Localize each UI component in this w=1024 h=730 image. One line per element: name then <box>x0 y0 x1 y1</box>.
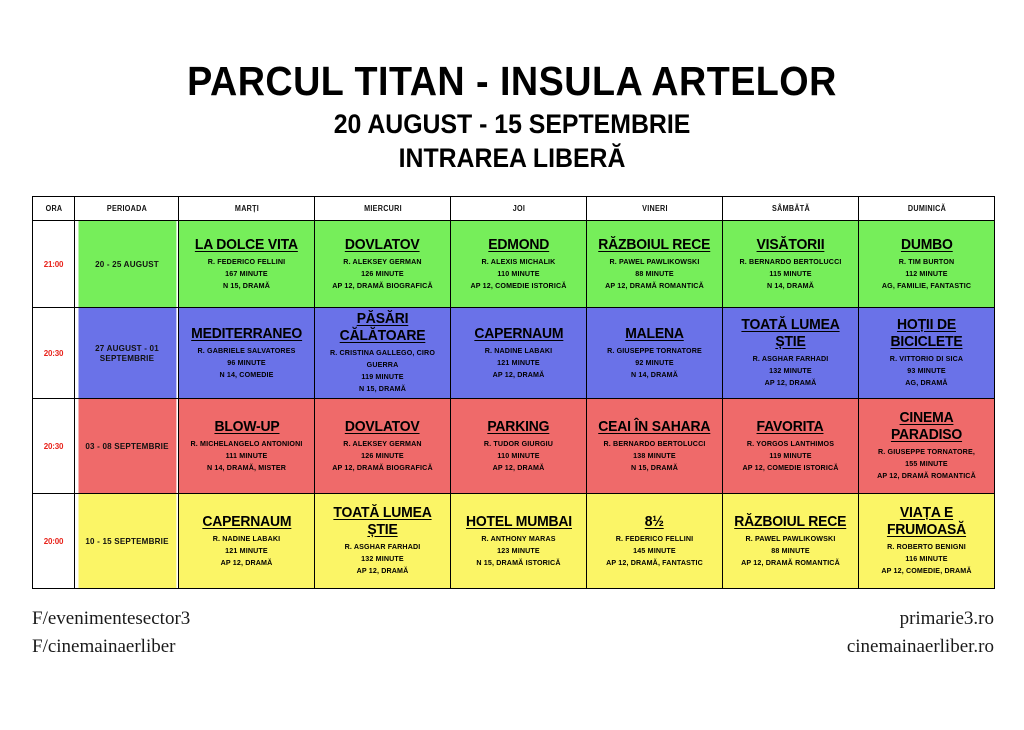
film-duration: 145 MINUTE <box>590 545 718 557</box>
film-title: VISĂTORII <box>757 237 825 254</box>
film-meta: N 15, DRAMĂ <box>590 462 718 474</box>
film-meta: AP 12, COMEDIE ISTORICĂ <box>454 280 582 292</box>
film-cell[interactable]: TOATĂ LUMEA ȘTIE R. ASGHAR FARHADI 132 M… <box>723 308 859 399</box>
film-duration: 123 MINUTE <box>454 545 582 557</box>
column-header-perioada: PERIOADA <box>80 197 174 221</box>
poster-header: PARCUL TITAN - INSULA ARTELOR 20 AUGUST … <box>0 0 1024 175</box>
row-time: 20:30 <box>33 399 75 494</box>
film-title: HOȚII DE BICICLETE <box>864 317 990 351</box>
film-director: R. NADINE LABAKI <box>182 533 310 545</box>
film-director: R. GIUSEPPE TORNATORE <box>590 345 718 357</box>
film-meta: N 14, DRAMĂ, MISTER <box>182 462 310 474</box>
footer-websites: primarie3.ro cinemainaerliber.ro <box>847 605 994 660</box>
film-director: R. PAWEL PAWLIKOWSKI <box>726 533 854 545</box>
website-primarie3[interactable]: primarie3.ro <box>847 605 994 633</box>
table-header-row: ORA PERIOADA MARȚI MIERCURI JOI VINERI S… <box>33 197 995 221</box>
film-duration: 116 MINUTE <box>862 553 990 565</box>
film-cell[interactable]: LA DOLCE VITA R. FEDERICO FELLINI 167 MI… <box>179 221 315 308</box>
film-meta: AP 12, DRAMĂ <box>318 565 446 577</box>
film-cell[interactable]: CAPERNAUM R. NADINE LABAKI 121 MINUTE AP… <box>179 494 315 589</box>
film-title: EDMOND <box>488 237 549 254</box>
film-duration: 96 MINUTE <box>182 357 310 369</box>
film-title: MALENA <box>625 326 684 343</box>
table-body: 21:00 20 - 25 AUGUST LA DOLCE VITA R. FE… <box>33 221 995 589</box>
film-duration: 155 MINUTE <box>862 458 990 470</box>
table-row: 20:30 27 AUGUST - 01 SEPTEMBRIE MEDITERR… <box>33 308 995 399</box>
film-director: R. ANTHONY MARAS <box>454 533 582 545</box>
film-duration: 110 MINUTE <box>454 450 582 462</box>
film-cell[interactable]: CAPERNAUM R. NADINE LABAKI 121 MINUTE AP… <box>451 308 587 399</box>
film-duration: 115 MINUTE <box>726 268 854 280</box>
footer-social: F/evenimentesector3 F/cinemainaerliber <box>32 605 190 660</box>
film-cell[interactable]: VIAȚA E FRUMOASĂ R. ROBERTO BENIGNI 116 … <box>859 494 995 589</box>
film-title: LA DOLCE VITA <box>195 237 298 254</box>
schedule-table: ORA PERIOADA MARȚI MIERCURI JOI VINERI S… <box>32 196 995 589</box>
film-duration: 111 MINUTE <box>182 450 310 462</box>
film-cell[interactable]: 8½ R. FEDERICO FELLINI 145 MINUTE AP 12,… <box>587 494 723 589</box>
film-director: R. TUDOR GIURGIU <box>454 438 582 450</box>
film-cell[interactable]: MALENA R. GIUSEPPE TORNATORE 92 MINUTE N… <box>587 308 723 399</box>
film-duration: 119 MINUTE <box>726 450 854 462</box>
film-duration: 121 MINUTE <box>182 545 310 557</box>
column-header-joi: JOI <box>457 197 579 221</box>
row-period: 27 AUGUST - 01 SEPTEMBRIE <box>77 308 176 399</box>
column-header-miercuri: MIERCURI <box>321 197 443 221</box>
film-duration: 132 MINUTE <box>726 365 854 377</box>
film-meta: AP 12, DRAMĂ <box>454 369 582 381</box>
website-cinemainaerliber[interactable]: cinemainaerliber.ro <box>847 633 994 661</box>
column-header-sambata: SÂMBĂTĂ <box>729 197 851 221</box>
film-cell[interactable]: CEAI ÎN SAHARA R. BERNARDO BERTOLUCCI 13… <box>587 399 723 494</box>
row-period: 20 - 25 AUGUST <box>77 221 176 308</box>
film-title: TOATĂ LUMEA ȘTIE <box>320 505 446 539</box>
film-director: R. FEDERICO FELLINI <box>590 533 718 545</box>
film-title: DOVLATOV <box>345 419 420 436</box>
film-director: R. NADINE LABAKI <box>454 345 582 357</box>
film-meta: AP 12, COMEDIE, DRAMĂ <box>862 565 990 577</box>
column-header-vineri: VINERI <box>593 197 715 221</box>
film-meta: N 14, DRAMĂ <box>590 369 718 381</box>
film-director: R. YORGOS LANTHIMOS <box>726 438 854 450</box>
film-director: R. MICHELANGELO ANTONIONI <box>182 438 310 450</box>
film-title: CINEMA PARADISO <box>864 410 990 444</box>
film-title: 8½ <box>645 514 664 531</box>
column-header-ora: ORA <box>35 197 73 221</box>
column-header-duminica: DUMINICĂ <box>865 197 987 221</box>
film-title: PARKING <box>487 419 549 436</box>
film-cell[interactable]: RĂZBOIUL RECE R. PAWEL PAWLIKOWSKI 88 MI… <box>723 494 859 589</box>
film-cell[interactable]: HOTEL MUMBAI R. ANTHONY MARAS 123 MINUTE… <box>451 494 587 589</box>
film-title: RĂZBOIUL RECE <box>734 514 846 531</box>
film-title: BLOW-UP <box>214 419 279 436</box>
film-title: TOATĂ LUMEA ȘTIE <box>728 317 854 351</box>
film-duration: 121 MINUTE <box>454 357 582 369</box>
film-cell[interactable]: DOVLATOV R. ALEKSEY GERMAN 126 MINUTE AP… <box>315 221 451 308</box>
film-director: R. ALEKSEY GERMAN <box>318 256 446 268</box>
film-title: RĂZBOIUL RECE <box>598 237 710 254</box>
film-meta: AP 12, DRAMĂ ROMANTICĂ <box>862 470 990 482</box>
row-time: 20:00 <box>33 494 75 589</box>
film-director: R. GIUSEPPE TORNATORE, <box>862 446 990 458</box>
film-duration: 119 MINUTE <box>318 371 446 383</box>
film-cell[interactable]: DUMBO R. TIM BURTON 112 MINUTE AG, FAMIL… <box>859 221 995 308</box>
film-duration: 93 MINUTE <box>862 365 990 377</box>
film-meta: AP 12, DRAMĂ, FANTASTIC <box>590 557 718 569</box>
film-director: R. ALEKSEY GERMAN <box>318 438 446 450</box>
page-title: PARCUL TITAN - INSULA ARTELOR <box>41 60 983 103</box>
film-cell[interactable]: FAVORITA R. YORGOS LANTHIMOS 119 MINUTE … <box>723 399 859 494</box>
film-director: R. FEDERICO FELLINI <box>182 256 310 268</box>
date-range: 20 AUGUST - 15 SEPTEMBRIE <box>41 109 983 141</box>
film-director: R. CRISTINA GALLEGO, CIRO GUERRA <box>318 347 446 371</box>
table-header: ORA PERIOADA MARȚI MIERCURI JOI VINERI S… <box>33 197 995 221</box>
column-header-marti: MARȚI <box>185 197 307 221</box>
film-cell[interactable]: CINEMA PARADISO R. GIUSEPPE TORNATORE, 1… <box>859 399 995 494</box>
film-cell[interactable]: PĂSĂRI CĂLĂTOARE R. CRISTINA GALLEGO, CI… <box>315 308 451 399</box>
film-meta: AP 12, DRAMĂ <box>182 557 310 569</box>
film-title: PĂSĂRI CĂLĂTOARE <box>320 311 446 345</box>
film-director: R. GABRIELE SALVATORES <box>182 345 310 357</box>
row-time: 21:00 <box>33 221 75 308</box>
film-meta: AG, DRAMĂ <box>862 377 990 389</box>
film-duration: 88 MINUTE <box>590 268 718 280</box>
film-meta: AP 12, DRAMĂ <box>454 462 582 474</box>
film-cell[interactable]: DOVLATOV R. ALEKSEY GERMAN 126 MINUTE AP… <box>315 399 451 494</box>
facebook-cinemainaerliber[interactable]: F/cinemainaerliber <box>32 633 190 661</box>
row-period: 10 - 15 SEPTEMBRIE <box>77 494 176 589</box>
film-cell[interactable]: BLOW-UP R. MICHELANGELO ANTONIONI 111 MI… <box>179 399 315 494</box>
film-duration: 92 MINUTE <box>590 357 718 369</box>
row-time: 20:30 <box>33 308 75 399</box>
film-title: CEAI ÎN SAHARA <box>598 419 710 436</box>
film-meta: N 14, DRAMĂ <box>726 280 854 292</box>
film-cell[interactable]: MEDITERRANEO R. GABRIELE SALVATORES 96 M… <box>179 308 315 399</box>
table-row: 20:30 03 - 08 SEPTEMBRIE BLOW-UP R. MICH… <box>33 399 995 494</box>
film-duration: 112 MINUTE <box>862 268 990 280</box>
film-meta: AG, FAMILIE, FANTASTIC <box>862 280 990 292</box>
poster-footer: F/evenimentesector3 F/cinemainaerliber p… <box>32 605 994 660</box>
film-title: FAVORITA <box>757 419 824 436</box>
film-meta: AP 12, COMEDIE ISTORICĂ <box>726 462 854 474</box>
film-meta: N 15, DRAMĂ <box>318 383 446 395</box>
film-duration: 138 MINUTE <box>590 450 718 462</box>
film-director: R. PAWEL PAWLIKOWSKI <box>590 256 718 268</box>
film-duration: 88 MINUTE <box>726 545 854 557</box>
film-director: R. VITTORIO DI SICA <box>862 353 990 365</box>
film-cell[interactable]: TOATĂ LUMEA ȘTIE R. ASGHAR FARHADI 132 M… <box>315 494 451 589</box>
film-cell[interactable]: VISĂTORII R. BERNARDO BERTOLUCCI 115 MIN… <box>723 221 859 308</box>
film-meta: AP 12, DRAMĂ BIOGRAFICĂ <box>318 462 446 474</box>
row-period: 03 - 08 SEPTEMBRIE <box>77 399 176 494</box>
film-cell[interactable]: HOȚII DE BICICLETE R. VITTORIO DI SICA 9… <box>859 308 995 399</box>
admission-note: INTRAREA LIBERĂ <box>41 143 983 175</box>
film-director: R. ASGHAR FARHADI <box>726 353 854 365</box>
film-title: MEDITERRANEO <box>191 326 302 343</box>
film-title: HOTEL MUMBAI <box>465 514 571 531</box>
film-duration: 132 MINUTE <box>318 553 446 565</box>
film-director: R. ASGHAR FARHADI <box>318 541 446 553</box>
film-cell[interactable]: RĂZBOIUL RECE R. PAWEL PAWLIKOWSKI 88 MI… <box>587 221 723 308</box>
poster-root: PARCUL TITAN - INSULA ARTELOR 20 AUGUST … <box>0 0 1024 730</box>
film-duration: 126 MINUTE <box>318 268 446 280</box>
film-duration: 110 MINUTE <box>454 268 582 280</box>
film-meta: AP 12, DRAMĂ ROMANTICĂ <box>726 557 854 569</box>
film-title: CAPERNAUM <box>474 326 563 343</box>
film-title: DUMBO <box>901 237 953 254</box>
film-duration: 126 MINUTE <box>318 450 446 462</box>
film-title: VIAȚA E FRUMOASĂ <box>864 505 990 539</box>
schedule-table-container: ORA PERIOADA MARȚI MIERCURI JOI VINERI S… <box>32 196 994 589</box>
film-title: DOVLATOV <box>345 237 420 254</box>
film-meta: AP 12, DRAMĂ <box>726 377 854 389</box>
film-director: R. BERNARDO BERTOLUCCI <box>726 256 854 268</box>
film-meta: N 14, COMEDIE <box>182 369 310 381</box>
film-meta: AP 12, DRAMĂ ROMANTICĂ <box>590 280 718 292</box>
facebook-evenimentesector3[interactable]: F/evenimentesector3 <box>32 605 190 633</box>
film-meta: AP 12, DRAMĂ BIOGRAFICĂ <box>318 280 446 292</box>
table-row: 21:00 20 - 25 AUGUST LA DOLCE VITA R. FE… <box>33 221 995 308</box>
film-meta: N 15, DRAMĂ <box>182 280 310 292</box>
table-row: 20:00 10 - 15 SEPTEMBRIE CAPERNAUM R. NA… <box>33 494 995 589</box>
film-director: R. ROBERTO BENIGNI <box>862 541 990 553</box>
film-duration: 167 MINUTE <box>182 268 310 280</box>
film-title: CAPERNAUM <box>202 514 291 531</box>
film-director: R. BERNARDO BERTOLUCCI <box>590 438 718 450</box>
film-meta: N 15, DRAMĂ ISTORICĂ <box>454 557 582 569</box>
film-director: R. TIM BURTON <box>862 256 990 268</box>
film-director: R. ALEXIS MICHALIK <box>454 256 582 268</box>
film-cell[interactable]: PARKING R. TUDOR GIURGIU 110 MINUTE AP 1… <box>451 399 587 494</box>
film-cell[interactable]: EDMOND R. ALEXIS MICHALIK 110 MINUTE AP … <box>451 221 587 308</box>
